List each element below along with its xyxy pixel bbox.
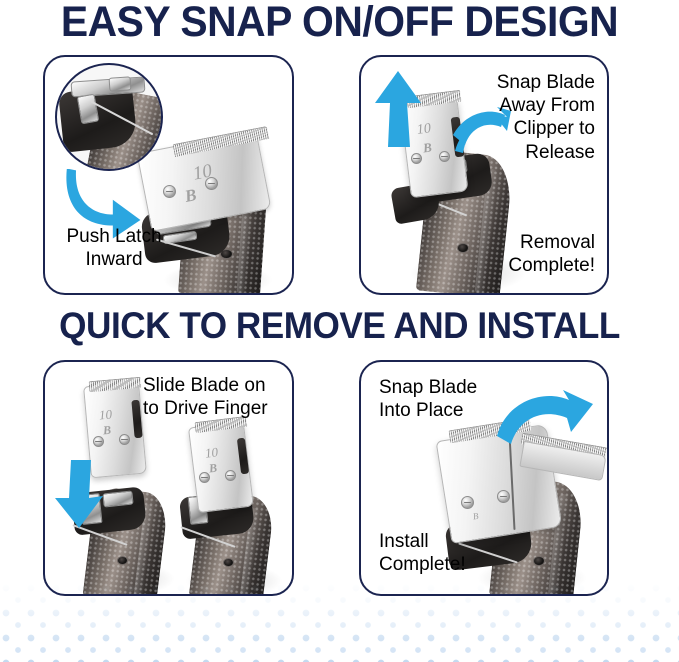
blade-screw-right <box>225 470 236 481</box>
caption-push-latch-inward: Push Latch Inward <box>49 225 179 271</box>
caption-removal-complete: Removal Complete! <box>443 231 595 277</box>
blade-screw-right <box>119 434 130 445</box>
blade-screw-left <box>461 496 474 509</box>
caption-snap-blade-away: Snap Blade Away From Clipper to Release <box>443 71 595 164</box>
caption-install-complete: Install Complete! <box>379 530 539 576</box>
blade-screw-left <box>411 153 422 164</box>
blade-screw-left <box>93 436 104 447</box>
caption-slide-blade-on: Slide Blade on to Drive Finger <box>143 374 293 420</box>
magnifier-inset-latch-closeup <box>55 63 163 171</box>
panel-slide-blade-on: 10 B 10 B Slide Blade on to Drive Finger <box>43 360 294 596</box>
clipper-port-hole <box>117 556 128 565</box>
panel-snap-blade-away: 10 B Snap Blade Away From Clipper to Rel… <box>359 55 609 295</box>
panel-snap-blade-into-place: B Snap Blade Into Place Install Complete… <box>359 360 609 596</box>
magnifier-inset-content <box>57 65 161 169</box>
blade-screw-right <box>205 177 218 190</box>
blade-screw-left <box>199 472 210 483</box>
blade-screw-right <box>497 490 510 503</box>
page-title-easy-snap: EASY SNAP ON/OFF DESIGN <box>17 1 662 44</box>
clipper-port-hole <box>223 558 234 567</box>
arrow-down-left-icon <box>51 458 107 530</box>
page-title-quick-to-remove: QUICK TO REMOVE AND INSTALL <box>17 307 662 344</box>
caption-snap-blade-into-place: Snap Blade Into Place <box>379 376 529 422</box>
straight-arrow-up-icon <box>371 69 425 151</box>
blade-screw-left <box>163 185 176 198</box>
inset-latch-tab <box>109 76 132 92</box>
panel-push-latch-inward: 10 B Push Latch Inward <box>43 55 294 295</box>
